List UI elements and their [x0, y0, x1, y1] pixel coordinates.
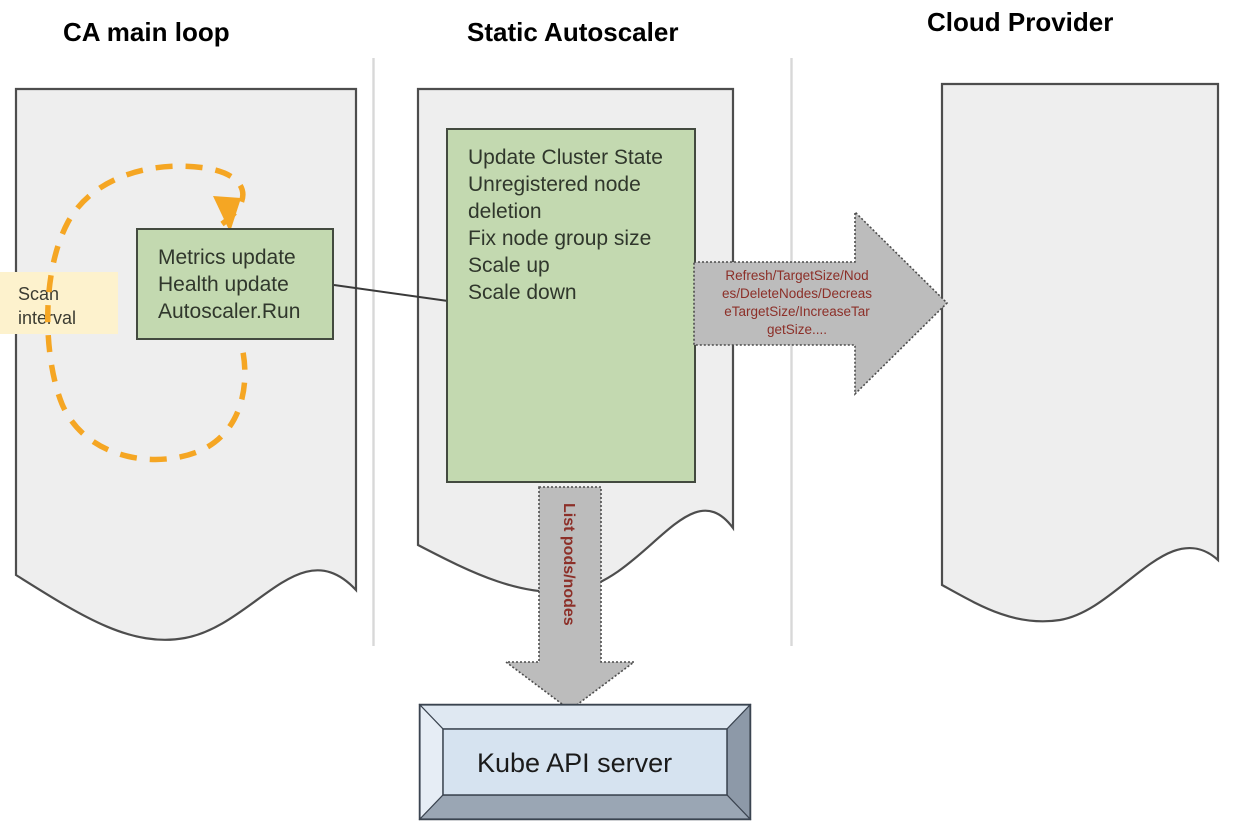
kube-api-server-bevel-top — [420, 705, 750, 729]
kube-api-server-layer — [0, 0, 1240, 838]
kube-api-server-label: Kube API server — [477, 748, 672, 779]
kube-api-server-bevel-bottom — [420, 795, 750, 819]
diagram-canvas: CA main loop Static Autoscaler Cloud Pro… — [0, 0, 1240, 838]
